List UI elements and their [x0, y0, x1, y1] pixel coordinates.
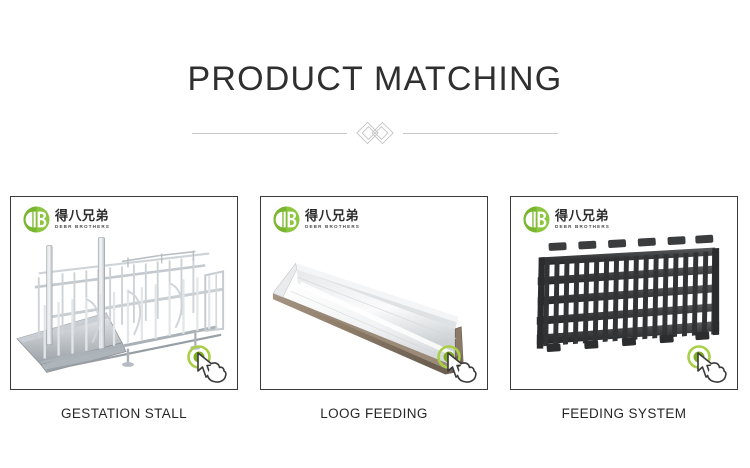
divider-line-right — [403, 133, 558, 134]
divider-line-left — [192, 133, 347, 134]
hand-click-cursor-icon[interactable] — [435, 343, 481, 385]
double-diamond-ornament-icon — [347, 120, 403, 146]
brand-name-cn: 得八兄弟 — [55, 210, 110, 223]
page-title: PRODUCT MATCHING — [0, 60, 750, 99]
brand-text: 得八兄弟 DEBR BROTHERS — [555, 210, 610, 230]
brand-logo: 得八兄弟 DEBR BROTHERS — [523, 206, 610, 233]
brand-text: 得八兄弟 DEBR BROTHERS — [305, 210, 360, 230]
brand-name-en: DEBR BROTHERS — [55, 225, 110, 230]
db-circle-logo-icon — [23, 206, 50, 233]
product-card-row: 得八兄弟 DEBR BROTHERS — [10, 196, 738, 391]
db-circle-logo-icon — [273, 206, 300, 233]
product-card-gestation-stall[interactable]: 得八兄弟 DEBR BROTHERS — [10, 196, 238, 390]
product-card-loog-feeding[interactable]: 得八兄弟 DEBR BROTHERS — [260, 196, 488, 390]
hand-click-cursor-icon[interactable] — [185, 343, 231, 385]
product-card-feeding-system[interactable]: 得八兄弟 DEBR BROTHERS — [510, 196, 738, 390]
brand-name-cn: 得八兄弟 — [305, 210, 360, 223]
caption-feeding-system: FEEDING SYSTEM — [510, 406, 738, 421]
divider — [0, 120, 750, 146]
caption-row: GESTATION STALL LOOG FEEDING FEEDING SYS… — [10, 406, 738, 421]
brand-logo: 得八兄弟 DEBR BROTHERS — [273, 206, 360, 233]
brand-name-en: DEBR BROTHERS — [555, 225, 610, 230]
caption-loog-feeding: LOOG FEEDING — [260, 406, 488, 421]
brand-logo: 得八兄弟 DEBR BROTHERS — [23, 206, 110, 233]
brand-name-cn: 得八兄弟 — [555, 210, 610, 223]
hand-click-cursor-icon[interactable] — [685, 343, 731, 385]
db-circle-logo-icon — [523, 206, 550, 233]
brand-name-en: DEBR BROTHERS — [305, 225, 360, 230]
caption-gestation-stall: GESTATION STALL — [10, 406, 238, 421]
brand-text: 得八兄弟 DEBR BROTHERS — [55, 210, 110, 230]
